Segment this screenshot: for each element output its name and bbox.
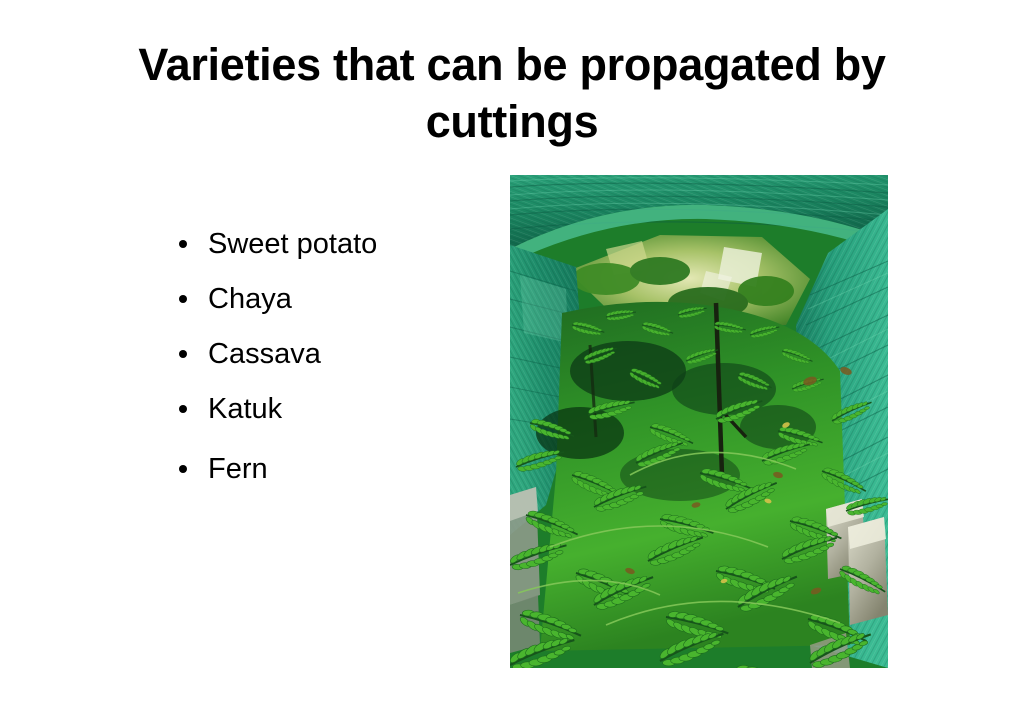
bullet-dot-icon bbox=[179, 465, 187, 473]
list-item-label: Fern bbox=[208, 452, 268, 486]
list-item: Cassava bbox=[176, 337, 486, 392]
list-item-label: Cassava bbox=[208, 337, 321, 371]
list-item: Fern bbox=[176, 452, 486, 492]
list-item: Sweet potato bbox=[176, 227, 486, 282]
list-item: Katuk bbox=[176, 392, 486, 452]
list-item-label: Sweet potato bbox=[208, 227, 377, 261]
bullet-dot-icon bbox=[179, 295, 187, 303]
page-title: Varieties that can be propagated by cutt… bbox=[62, 36, 962, 150]
nursery-fern-photo bbox=[510, 175, 888, 668]
bullet-dot-icon bbox=[179, 405, 187, 413]
bullet-dot-icon bbox=[179, 240, 187, 248]
list-item-label: Chaya bbox=[208, 282, 292, 316]
list-item: Chaya bbox=[176, 282, 486, 337]
bullet-list: Sweet potato Chaya Cassava Katuk Fern bbox=[176, 227, 486, 492]
slide-canvas: Varieties that can be propagated by cutt… bbox=[0, 0, 1024, 724]
bullet-dot-icon bbox=[179, 350, 187, 358]
list-item-label: Katuk bbox=[208, 392, 282, 426]
